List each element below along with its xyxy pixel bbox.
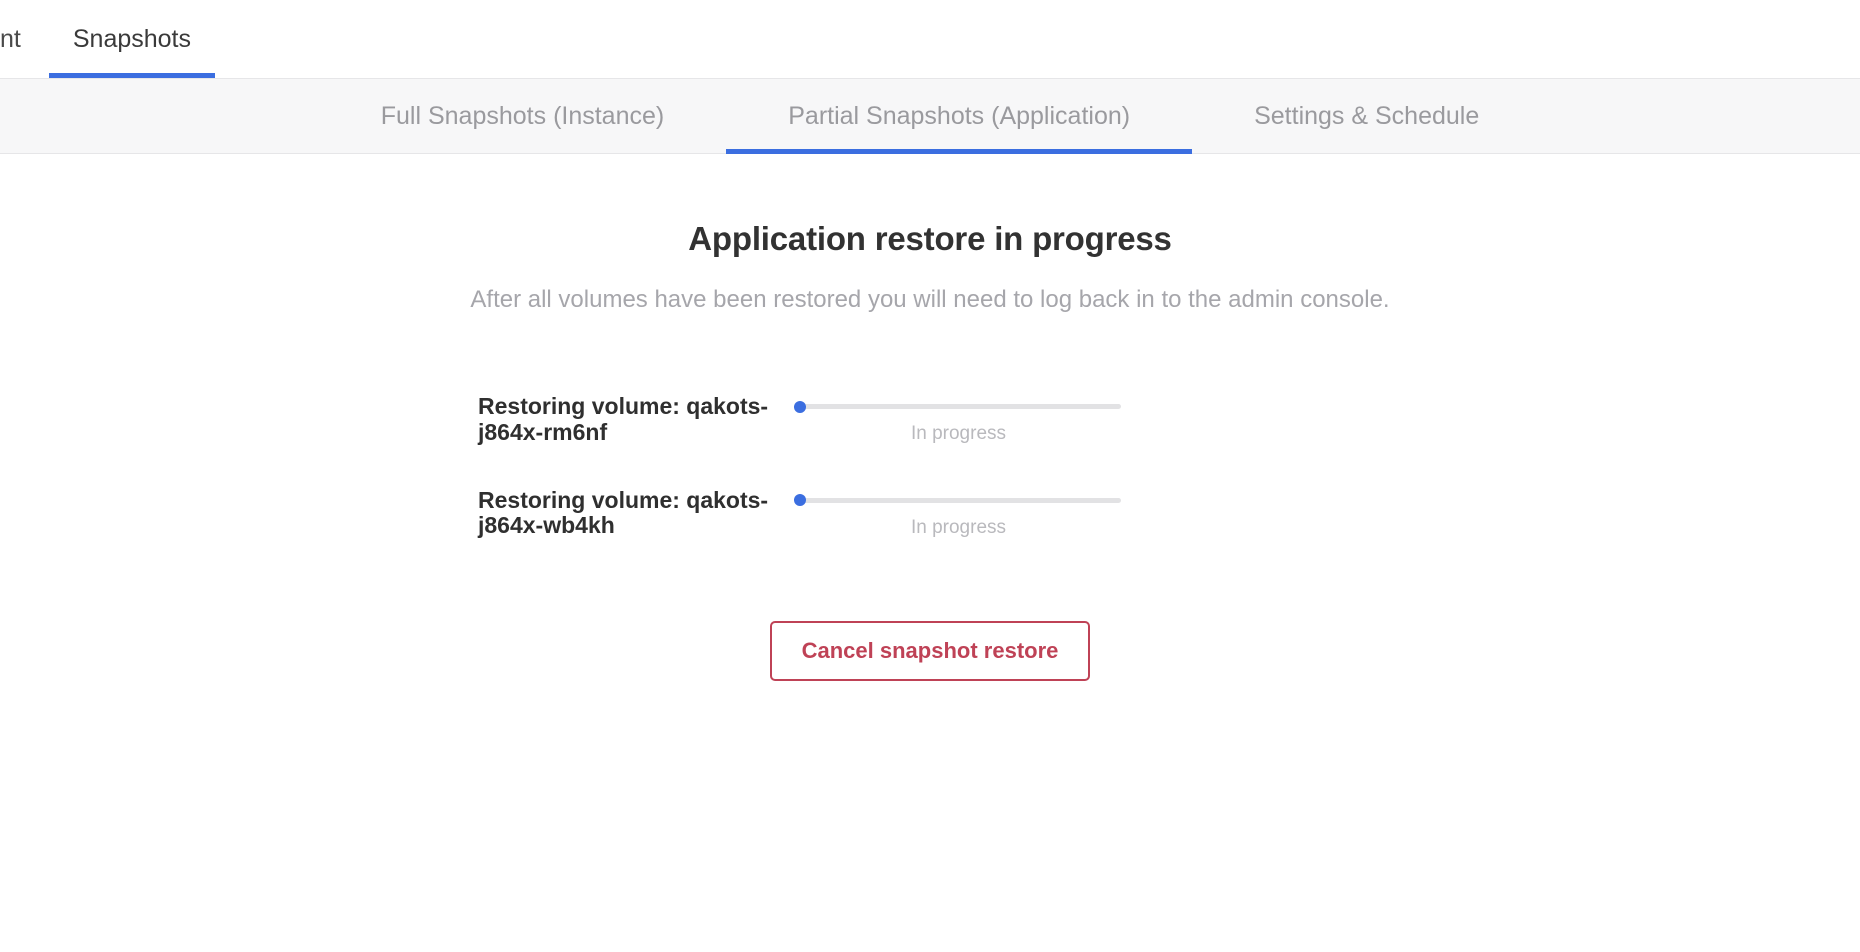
volume-restore-row: Restoring volume: qakots-j864x-rm6nf In … — [478, 390, 1121, 446]
volume-progress-block: In progress — [796, 484, 1121, 539]
progress-indicator-dot — [794, 494, 806, 506]
volume-progress-block: In progress — [796, 390, 1121, 445]
tab-label: nt — [0, 25, 21, 54]
subtab-label: Settings & Schedule — [1254, 102, 1479, 131]
subtab-label: Partial Snapshots (Application) — [788, 102, 1130, 131]
progress-status-text: In progress — [796, 517, 1121, 539]
tab-label: Snapshots — [73, 25, 191, 54]
progress-bar — [796, 498, 1121, 503]
progress-bar — [796, 404, 1121, 409]
subtab-label: Full Snapshots (Instance) — [381, 102, 664, 131]
subtab-partial-snapshots[interactable]: Partial Snapshots (Application) — [726, 78, 1192, 154]
volume-restore-label: Restoring volume: qakots-j864x-rm6nf — [478, 390, 796, 446]
volume-restore-list: Restoring volume: qakots-j864x-rm6nf In … — [0, 390, 1860, 577]
progress-indicator-dot — [794, 401, 806, 413]
subtab-settings-schedule[interactable]: Settings & Schedule — [1192, 78, 1541, 154]
cancel-snapshot-restore-button[interactable]: Cancel snapshot restore — [770, 621, 1091, 681]
tab-deployment-clipped[interactable]: nt — [0, 0, 49, 78]
secondary-tab-bar: Full Snapshots (Instance) Partial Snapsh… — [0, 78, 1860, 154]
tab-snapshots[interactable]: Snapshots — [49, 0, 215, 78]
page-title: Application restore in progress — [0, 154, 1860, 258]
primary-tab-bar: nt Snapshots — [0, 0, 1860, 78]
volume-restore-label: Restoring volume: qakots-j864x-wb4kh — [478, 484, 796, 540]
cancel-button-container: Cancel snapshot restore — [0, 621, 1860, 681]
subtab-full-snapshots[interactable]: Full Snapshots (Instance) — [319, 78, 726, 154]
restore-progress-panel: Application restore in progress After al… — [0, 154, 1860, 681]
page-subtitle: After all volumes have been restored you… — [0, 258, 1860, 314]
volume-restore-row: Restoring volume: qakots-j864x-wb4kh In … — [478, 484, 1121, 540]
progress-status-text: In progress — [796, 423, 1121, 445]
